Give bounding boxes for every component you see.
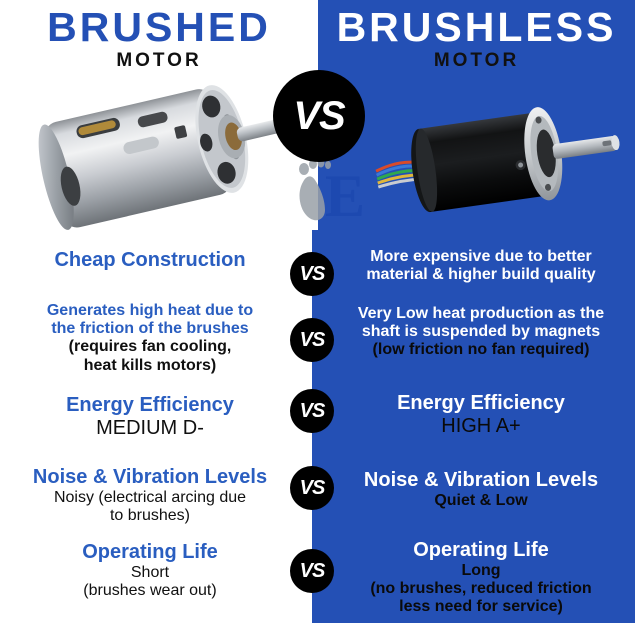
row-life-right-sub: Long (330, 562, 632, 580)
row-noise-left-sub2: to brushes) (4, 507, 296, 525)
infographic-root: BRUSHED MOTOR BRUSHLESS MOTOR (0, 0, 635, 623)
row-life-right-head: Operating Life (330, 539, 632, 562)
vs-badge-row-3: VS (290, 389, 334, 433)
row-heat-right-head2: shaft is suspended by magnets (330, 323, 632, 341)
row-efficiency-right-head: Energy Efficiency (330, 392, 632, 415)
row-noise-right-sub: Quiet & Low (330, 492, 632, 510)
row-life-right: Operating Life Long (no brushes, reduced… (330, 539, 632, 617)
row-construction-right-head: More expensive due to better (330, 248, 632, 266)
row-life-left-head: Operating Life (4, 541, 296, 564)
row-efficiency-right: Energy Efficiency HIGH A+ (330, 392, 632, 438)
vs-label: VS (300, 400, 325, 423)
row-heat-right: Very Low heat production as the shaft is… (330, 305, 632, 360)
row-efficiency-left-sub: MEDIUM D- (4, 417, 296, 440)
row-life-right-sub3: less need for service) (330, 598, 632, 616)
vs-badge-row-1: VS (290, 252, 334, 296)
row-efficiency-left: Energy Efficiency MEDIUM D- (4, 394, 296, 440)
row-noise-left-head: Noise & Vibration Levels (4, 466, 296, 489)
row-heat-right-sub: (low friction no fan required) (330, 341, 632, 359)
brushed-motor-image (28, 74, 286, 239)
brushless-motor-image (368, 92, 630, 232)
row-heat-left-head: Generates high heat due to (4, 302, 296, 320)
row-heat-left-head2: the friction of the brushes (4, 320, 296, 338)
row-heat-left-sub: (requires fan cooling, (4, 338, 296, 356)
row-life-left: Operating Life Short (brushes wear out) (4, 541, 296, 600)
header-brushed: BRUSHED MOTOR (0, 4, 318, 74)
row-construction-right-head2: material & higher build quality (330, 266, 632, 284)
vs-label: VS (293, 94, 344, 139)
row-construction-right: More expensive due to better material & … (330, 248, 632, 284)
header-brushed-title: BRUSHED (0, 4, 318, 50)
vs-label: VS (300, 560, 325, 583)
row-life-left-sub2: (brushes wear out) (4, 582, 296, 600)
row-construction-left-head: Cheap Construction (4, 249, 296, 272)
header-brushed-subtitle: MOTOR (0, 50, 318, 72)
watermark-logo: E (285, 152, 369, 228)
vs-label: VS (300, 263, 325, 286)
row-noise-left: Noise & Vibration Levels Noisy (electric… (4, 466, 296, 525)
vs-badge-row-4: VS (290, 466, 334, 510)
row-heat-left: Generates high heat due to the friction … (4, 302, 296, 375)
row-life-right-sub2: (no brushes, reduced friction (330, 580, 632, 598)
row-noise-right: Noise & Vibration Levels Quiet & Low (330, 469, 632, 510)
row-heat-left-sub2: heat kills motors) (4, 357, 296, 375)
vs-label: VS (300, 329, 325, 352)
watermark-letter: E (325, 163, 365, 228)
row-construction-left: Cheap Construction (4, 249, 296, 272)
vs-badge-row-2: VS (290, 318, 334, 362)
row-noise-right-head: Noise & Vibration Levels (330, 469, 632, 492)
vs-badge-main: VS (273, 70, 365, 162)
header-brushless-subtitle: MOTOR (318, 50, 635, 72)
row-efficiency-right-sub: HIGH A+ (330, 415, 632, 438)
vs-label: VS (300, 477, 325, 500)
row-life-left-sub: Short (4, 564, 296, 582)
header-brushless: BRUSHLESS MOTOR (318, 4, 635, 74)
row-noise-left-sub: Noisy (electrical arcing due (4, 489, 296, 507)
row-efficiency-left-head: Energy Efficiency (4, 394, 296, 417)
row-heat-right-head: Very Low heat production as the (330, 305, 632, 323)
header-brushless-title: BRUSHLESS (318, 4, 635, 50)
vs-badge-row-5: VS (290, 549, 334, 593)
